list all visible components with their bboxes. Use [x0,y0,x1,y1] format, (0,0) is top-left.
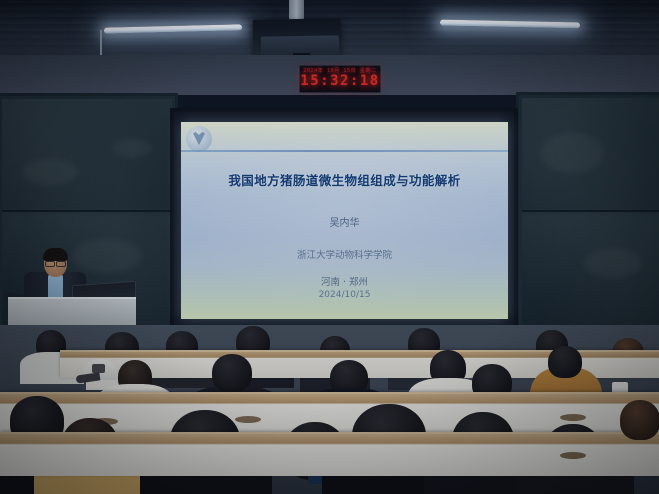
chalk-smudge [22,159,78,185]
chalkboard-divider [2,210,172,212]
audience-head [212,354,252,392]
chalkboard-right [516,92,659,333]
desk-cable-hole [560,452,586,459]
chalk-smudge [584,248,642,278]
audience-head [548,346,582,378]
slide-date: 2024/10/15 [181,290,508,300]
lecture-hall-photo: 我国地方猪肠道微生物组组成与功能解析 吴内华 浙江大学动物科学学院 河南 · 郑… [0,0,659,494]
digital-clock: 2024年 10月 15日 星期二 15:32:18 [299,65,381,93]
university-logo-icon [186,126,212,152]
presentation-slide: 我国地方猪肠道微生物组组成与功能解析 吴内华 浙江大学动物科学学院 河南 · 郑… [181,122,508,319]
desk-cable-hole [560,414,586,421]
chalk-smudge [540,133,604,173]
slide-divider-line [181,150,508,152]
desk-cable-hole [235,416,261,423]
chalk-smudge [112,139,152,157]
slide-affiliation: 浙江大学动物科学学院 [181,247,508,261]
clock-time: 15:32:18 [300,73,380,89]
audience-head [620,400,659,440]
slide-place: 河南 · 郑州 [181,274,508,288]
chalkboard-divider [522,210,659,212]
slide-title: 我国地方猪肠道微生物组组成与功能解析 [181,170,508,189]
chalkboard-right-surface [522,98,659,327]
glasses-icon [45,260,66,265]
slide-author: 吴内华 [181,214,508,229]
cap-logo-icon [92,364,105,373]
